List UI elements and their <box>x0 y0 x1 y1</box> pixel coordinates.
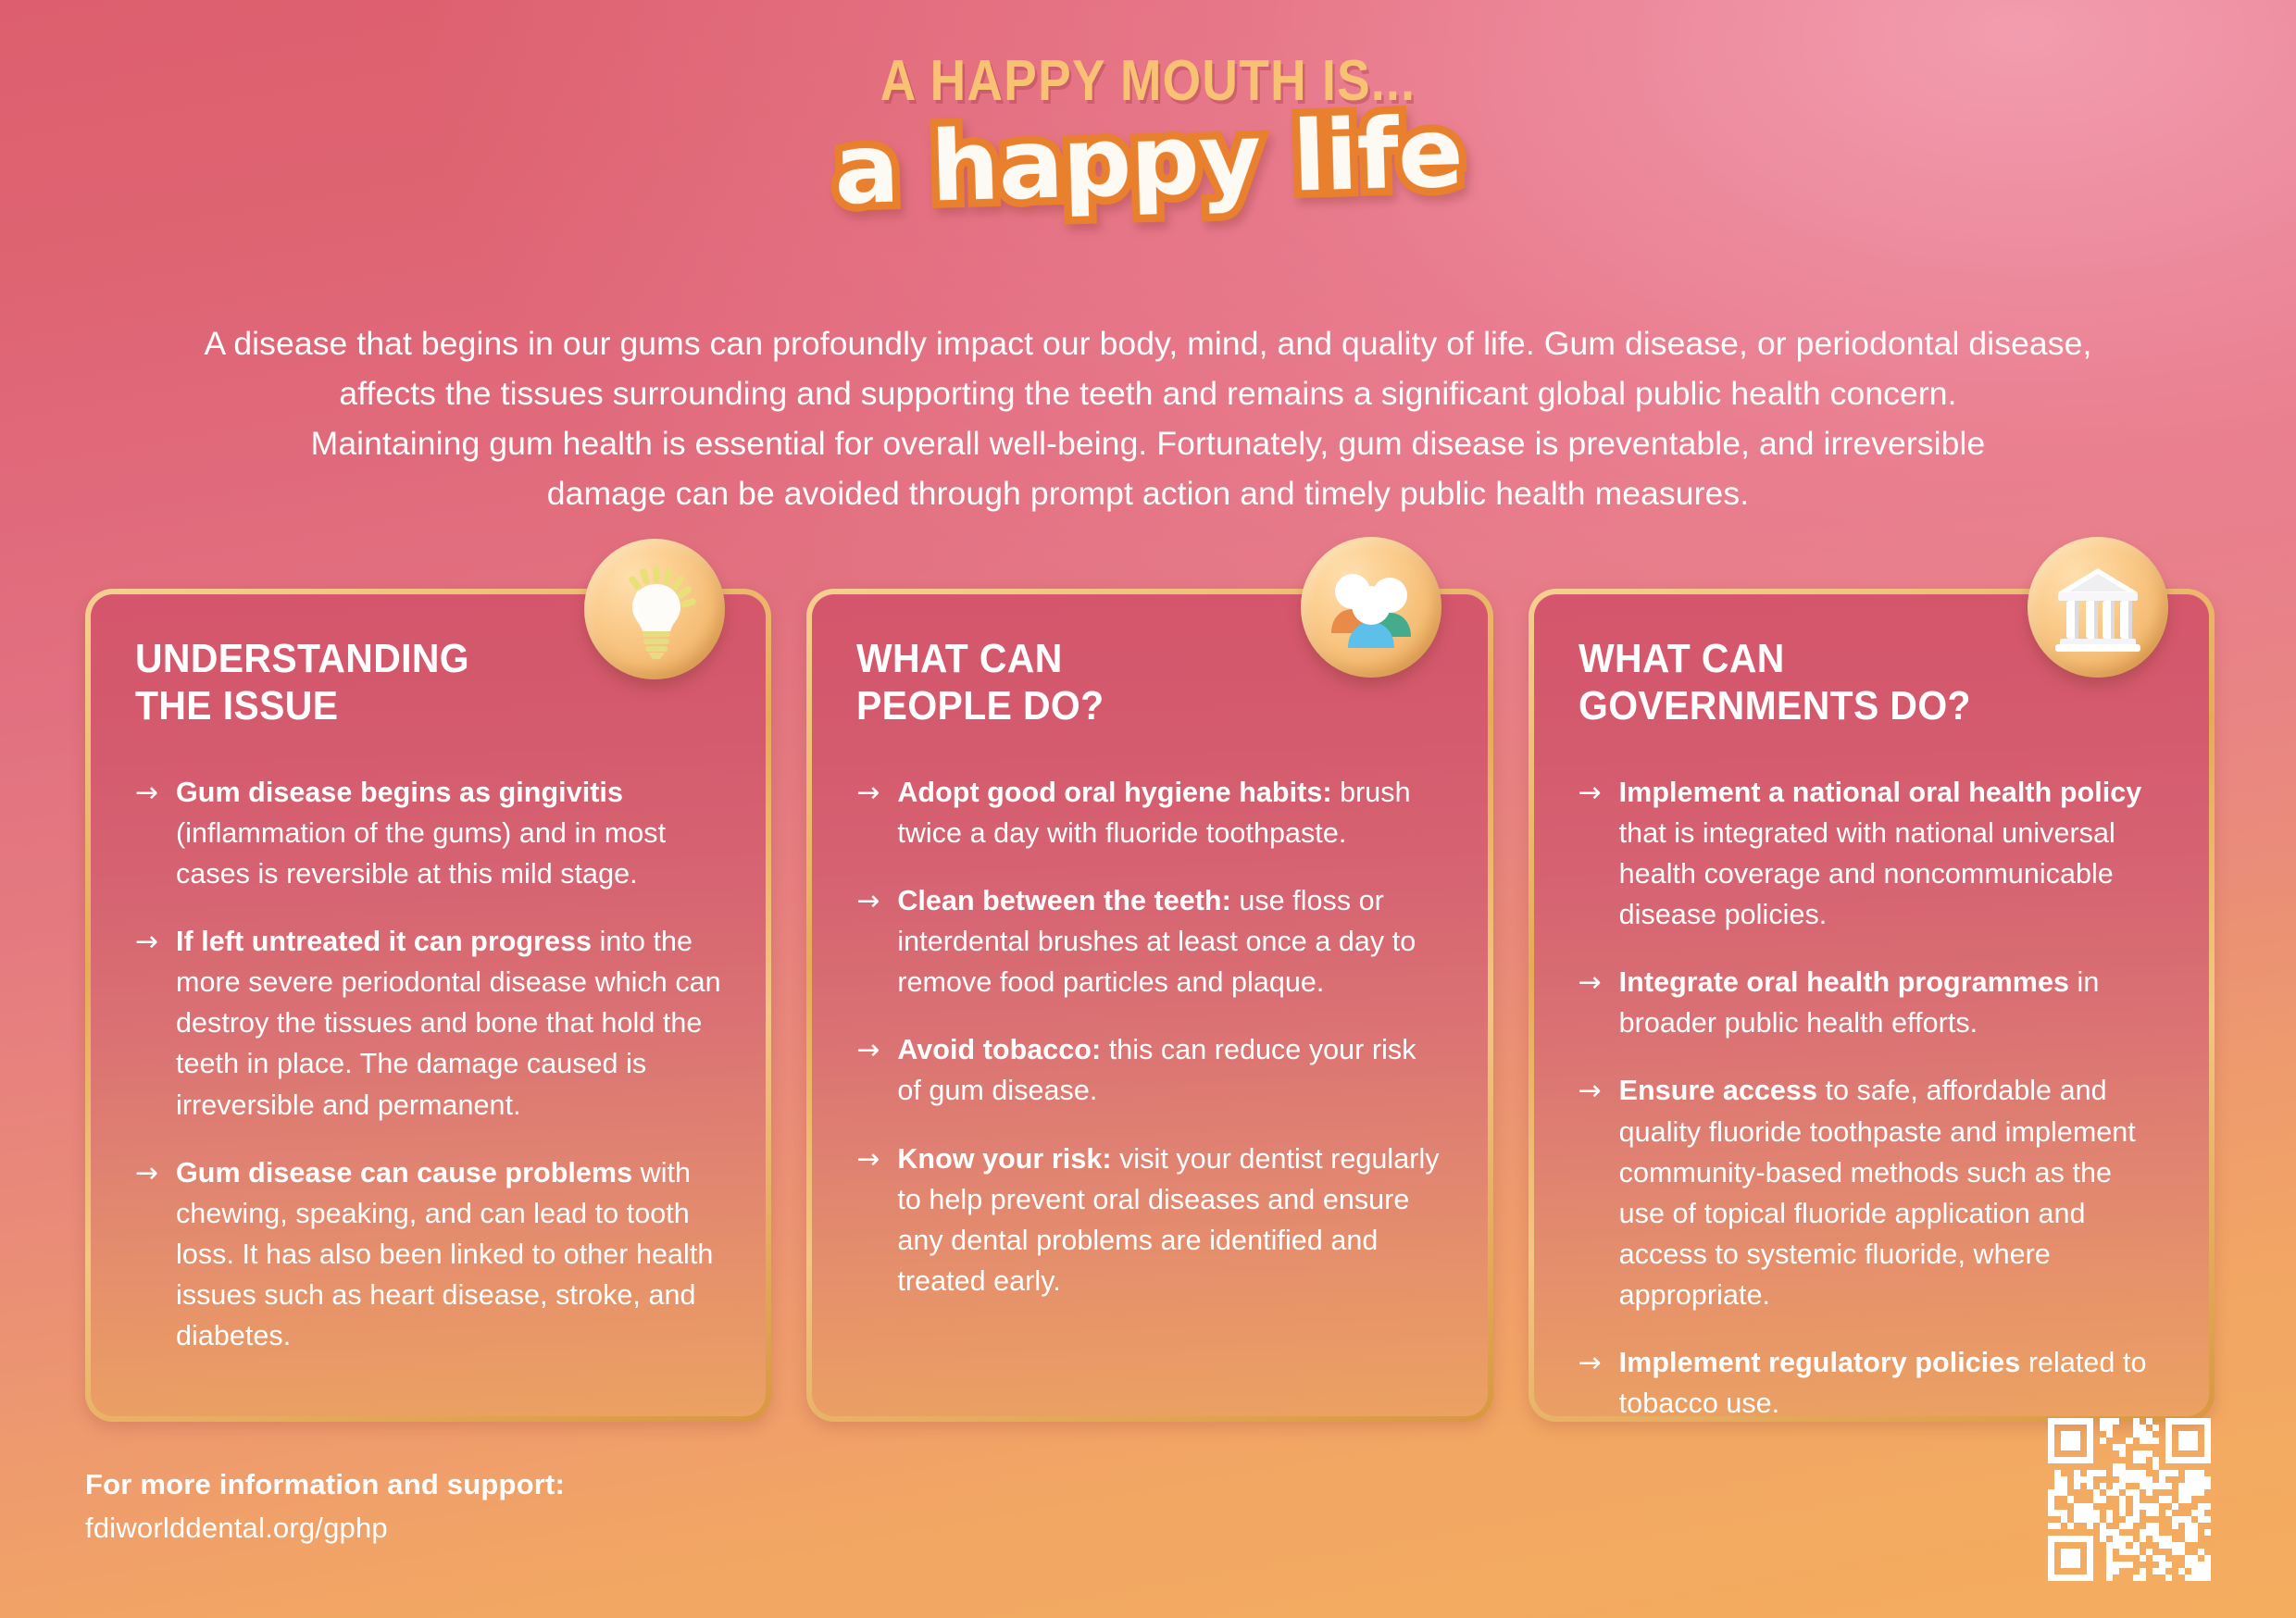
qr-module <box>2093 1483 2100 1489</box>
qr-module <box>2152 1555 2159 1562</box>
qr-module <box>2165 1549 2172 1555</box>
qr-module <box>2054 1418 2061 1425</box>
qr-module <box>2146 1431 2152 1438</box>
qr-module <box>2106 1568 2113 1574</box>
qr-module <box>2185 1450 2191 1457</box>
qr-module <box>2067 1444 2074 1450</box>
bullet-text: Gum disease begins as gingivitis (inflam… <box>176 772 721 894</box>
qr-module <box>2113 1503 2119 1510</box>
qr-module <box>2119 1555 2126 1562</box>
qr-module <box>2054 1529 2061 1536</box>
qr-module <box>2133 1483 2140 1489</box>
intro-line-2: affects the tissues surrounding and supp… <box>167 369 2129 419</box>
qr-module <box>2080 1444 2087 1450</box>
bullet-text: Clean between the teeth: use floss or in… <box>897 880 1442 1002</box>
qr-module <box>2191 1574 2198 1581</box>
qr-module <box>2067 1562 2074 1568</box>
qr-module <box>2185 1516 2191 1523</box>
qr-module <box>2159 1523 2165 1529</box>
qr-module <box>2061 1431 2067 1438</box>
qr-module <box>2119 1438 2126 1444</box>
qr-module <box>2133 1523 2140 1529</box>
qr-module <box>2048 1444 2054 1450</box>
qr-module <box>2119 1568 2126 1574</box>
qr-module <box>2191 1470 2198 1476</box>
qr-module <box>2178 1444 2185 1450</box>
qr-module <box>2140 1444 2146 1450</box>
qr-module <box>2152 1483 2159 1489</box>
qr-module <box>2165 1496 2172 1502</box>
card-understanding-the-issue: UNDERSTANDING THE ISSUE → Gum disease be… <box>85 589 771 1422</box>
qr-module <box>2100 1431 2106 1438</box>
qr-module <box>2074 1536 2080 1542</box>
qr-module <box>2054 1425 2061 1431</box>
qr-module <box>2080 1483 2087 1489</box>
qr-module <box>2191 1450 2198 1457</box>
qr-module <box>2204 1470 2211 1476</box>
qr-module <box>2165 1457 2172 1463</box>
qr-module <box>2106 1536 2113 1542</box>
qr-module <box>2152 1450 2159 1457</box>
qr-module <box>2080 1418 2087 1425</box>
logo-title: a happy life <box>832 105 1463 218</box>
qr-module <box>2054 1463 2061 1470</box>
qr-module <box>2080 1523 2087 1529</box>
bullet-lead: Gum disease begins as gingivitis <box>176 777 623 808</box>
qr-module <box>2080 1574 2087 1581</box>
list-item: → Gum disease begins as gingivitis (infl… <box>135 772 721 894</box>
qr-module <box>2061 1510 2067 1516</box>
bullet-text: Avoid tobacco: this can reduce your risk… <box>897 1029 1442 1111</box>
qr-module <box>2146 1444 2152 1450</box>
qr-module <box>2100 1444 2106 1450</box>
qr-module <box>2048 1568 2054 1574</box>
qr-module <box>2061 1489 2067 1496</box>
qr-module <box>2113 1549 2119 1555</box>
qr-module <box>2119 1463 2126 1470</box>
qr-module <box>2198 1529 2204 1536</box>
qr-module <box>2126 1483 2132 1489</box>
qr-module <box>2178 1470 2185 1476</box>
qr-module <box>2152 1476 2159 1483</box>
qr-module <box>2067 1431 2074 1438</box>
qr-module <box>2100 1496 2106 1502</box>
qr-module <box>2100 1523 2106 1529</box>
qr-module <box>2191 1418 2198 1425</box>
qr-module <box>2178 1483 2185 1489</box>
qr-module <box>2054 1431 2061 1438</box>
qr-module <box>2119 1516 2126 1523</box>
qr-module <box>2133 1450 2140 1457</box>
qr-module <box>2106 1496 2113 1502</box>
qr-module <box>2159 1562 2165 1568</box>
qr-module <box>2048 1562 2054 1568</box>
qr-module <box>2191 1516 2198 1523</box>
qr-module <box>2165 1529 2172 1536</box>
bullet-list: → Gum disease begins as gingivitis (infl… <box>135 772 721 1356</box>
qr-module <box>2067 1549 2074 1555</box>
qr-module <box>2061 1542 2067 1549</box>
qr-module <box>2146 1536 2152 1542</box>
qr-module <box>2100 1463 2106 1470</box>
qr-module <box>2113 1457 2119 1463</box>
qr-module <box>2113 1418 2119 1425</box>
qr-module <box>2191 1510 2198 1516</box>
footer-label: For more information and support: <box>85 1463 565 1507</box>
qr-module <box>2100 1450 2106 1457</box>
qr-module <box>2119 1476 2126 1483</box>
qr-module <box>2159 1438 2165 1444</box>
qr-module <box>2061 1450 2067 1457</box>
qr-module <box>2191 1562 2198 1568</box>
qr-module <box>2191 1536 2198 1542</box>
qr-module <box>2080 1489 2087 1496</box>
qr-module <box>2191 1425 2198 1431</box>
qr-module <box>2126 1536 2132 1542</box>
qr-module <box>2204 1483 2211 1489</box>
qr-module <box>2048 1489 2054 1496</box>
qr-module <box>2159 1483 2165 1489</box>
qr-module <box>2185 1483 2191 1489</box>
qr-module <box>2172 1510 2178 1516</box>
qr-module <box>2140 1542 2146 1549</box>
list-item: → Clean between the teeth: use floss or … <box>856 880 1442 1002</box>
qr-module <box>2074 1450 2080 1457</box>
qr-module <box>2106 1431 2113 1438</box>
qr-module <box>2048 1457 2054 1463</box>
qr-module <box>2087 1425 2093 1431</box>
qr-code[interactable] <box>2048 1418 2211 1581</box>
qr-module <box>2159 1555 2165 1562</box>
qr-module <box>2152 1457 2159 1463</box>
qr-module <box>2067 1470 2074 1476</box>
qr-module <box>2178 1568 2185 1574</box>
qr-module <box>2067 1418 2074 1425</box>
bullet-lead: Know your risk: <box>897 1143 1111 1175</box>
qr-module <box>2061 1438 2067 1444</box>
qr-module <box>2146 1489 2152 1496</box>
qr-module <box>2126 1470 2132 1476</box>
arrow-right-icon: → <box>1578 1342 1619 1383</box>
qr-module <box>2133 1431 2140 1438</box>
qr-module <box>2061 1562 2067 1568</box>
qr-module <box>2061 1549 2067 1555</box>
qr-module <box>2061 1444 2067 1450</box>
qr-module <box>2113 1425 2119 1431</box>
qr-module <box>2146 1503 2152 1510</box>
qr-module <box>2054 1542 2061 1549</box>
qr-module <box>2204 1450 2211 1457</box>
qr-module <box>2087 1444 2093 1450</box>
qr-module <box>2067 1555 2074 1562</box>
qr-module <box>2061 1425 2067 1431</box>
qr-module <box>2113 1470 2119 1476</box>
qr-module <box>2093 1457 2100 1463</box>
qr-module <box>2133 1457 2140 1463</box>
qr-module <box>2048 1549 2054 1555</box>
qr-module <box>2113 1483 2119 1489</box>
qr-module <box>2198 1418 2204 1425</box>
qr-module <box>2204 1549 2211 1555</box>
bullet-text: If left untreated it can progress into t… <box>176 921 721 1125</box>
header: A HAPPY MOUTH IS... a happy life <box>0 0 2296 305</box>
qr-module <box>2093 1463 2100 1470</box>
qr-module <box>2080 1425 2087 1431</box>
qr-module <box>2093 1542 2100 1549</box>
qr-module <box>2100 1503 2106 1510</box>
qr-module <box>2152 1444 2159 1450</box>
qr-module <box>2198 1476 2204 1483</box>
qr-module <box>2204 1503 2211 1510</box>
qr-module <box>2126 1418 2132 1425</box>
qr-module <box>2119 1483 2126 1489</box>
qr-module <box>2204 1536 2211 1542</box>
qr-module <box>2054 1438 2061 1444</box>
qr-module <box>2159 1450 2165 1457</box>
qr-module <box>2048 1542 2054 1549</box>
qr-module <box>2172 1496 2178 1502</box>
qr-module <box>2119 1510 2126 1516</box>
qr-module <box>2126 1489 2132 1496</box>
qr-module <box>2074 1503 2080 1510</box>
qr-module <box>2140 1476 2146 1483</box>
qr-module <box>2054 1555 2061 1562</box>
bullet-text: Gum disease can cause problems with chew… <box>176 1152 721 1356</box>
qr-module <box>2093 1562 2100 1568</box>
qr-module <box>2165 1555 2172 1562</box>
qr-module <box>2178 1503 2185 1510</box>
qr-module <box>2146 1457 2152 1463</box>
qr-module <box>2165 1418 2172 1425</box>
qr-module <box>2048 1536 2054 1542</box>
qr-module <box>2198 1463 2204 1470</box>
qr-module <box>2133 1503 2140 1510</box>
qr-module <box>2126 1444 2132 1450</box>
qr-module <box>2087 1516 2093 1523</box>
qr-module <box>2087 1431 2093 1438</box>
qr-module <box>2140 1418 2146 1425</box>
qr-module <box>2152 1516 2159 1523</box>
qr-module <box>2126 1523 2132 1529</box>
qr-module <box>2106 1562 2113 1568</box>
qr-module <box>2191 1523 2198 1529</box>
qr-module <box>2106 1438 2113 1444</box>
qr-module <box>2100 1574 2106 1581</box>
qr-module <box>2165 1516 2172 1523</box>
qr-module <box>2140 1450 2146 1457</box>
qr-module <box>2152 1503 2159 1510</box>
qr-module <box>2080 1562 2087 1568</box>
qr-module <box>2087 1457 2093 1463</box>
qr-module <box>2087 1463 2093 1470</box>
arrow-right-icon: → <box>856 1139 897 1179</box>
qr-module <box>2204 1476 2211 1483</box>
qr-module <box>2061 1555 2067 1562</box>
qr-module <box>2204 1418 2211 1425</box>
qr-module <box>2074 1510 2080 1516</box>
qr-module <box>2204 1523 2211 1529</box>
qr-module <box>2159 1470 2165 1476</box>
footer: For more information and support: fdiwor… <box>85 1463 565 1550</box>
qr-module <box>2198 1503 2204 1510</box>
qr-module <box>2061 1496 2067 1502</box>
qr-module <box>2178 1457 2185 1463</box>
qr-module <box>2093 1431 2100 1438</box>
qr-module <box>2152 1438 2159 1444</box>
qr-module <box>2113 1489 2119 1496</box>
qr-module <box>2133 1574 2140 1581</box>
qr-module <box>2152 1425 2159 1431</box>
qr-module <box>2140 1523 2146 1529</box>
qr-module <box>2191 1431 2198 1438</box>
qr-module <box>2093 1489 2100 1496</box>
qr-module <box>2146 1568 2152 1574</box>
bullet-lead: Ensure access <box>1619 1075 1817 1106</box>
footer-url[interactable]: fdiworlddental.org/gphp <box>85 1507 565 1550</box>
qr-module <box>2133 1542 2140 1549</box>
qr-module <box>2080 1516 2087 1523</box>
card-what-can-governments-do: WHAT CAN GOVERNMENTS DO? → Implement a n… <box>1529 589 2215 1422</box>
qr-module <box>2191 1444 2198 1450</box>
qr-module <box>2087 1496 2093 1502</box>
qr-module <box>2146 1418 2152 1425</box>
qr-module <box>2074 1523 2080 1529</box>
bullet-text: Ensure access to safe, affordable and qu… <box>1619 1070 2165 1314</box>
qr-module <box>2204 1496 2211 1502</box>
qr-module <box>2152 1418 2159 1425</box>
qr-module <box>2067 1463 2074 1470</box>
qr-module <box>2087 1536 2093 1542</box>
qr-module <box>2185 1503 2191 1510</box>
qr-module <box>2048 1574 2054 1581</box>
qr-module <box>2074 1568 2080 1574</box>
qr-module <box>2165 1463 2172 1470</box>
list-item: → Implement a national oral health polic… <box>1578 772 2165 935</box>
qr-module <box>2204 1529 2211 1536</box>
qr-module <box>2074 1542 2080 1549</box>
qr-module <box>2140 1425 2146 1431</box>
qr-module <box>2074 1463 2080 1470</box>
qr-module <box>2067 1510 2074 1516</box>
qr-module <box>2074 1489 2080 1496</box>
qr-module <box>2198 1457 2204 1463</box>
qr-module <box>2113 1574 2119 1581</box>
qr-module <box>2165 1450 2172 1457</box>
qr-module <box>2106 1418 2113 1425</box>
qr-module <box>2152 1470 2159 1476</box>
qr-module <box>2185 1542 2191 1549</box>
qr-module <box>2126 1503 2132 1510</box>
qr-module <box>2106 1450 2113 1457</box>
qr-module <box>2048 1418 2054 1425</box>
qr-module <box>2152 1574 2159 1581</box>
qr-module <box>2172 1523 2178 1529</box>
qr-module <box>2054 1523 2061 1529</box>
qr-module <box>2080 1549 2087 1555</box>
bullet-text: Implement a national oral health policy … <box>1619 772 2165 935</box>
qr-module <box>2165 1568 2172 1574</box>
qr-module <box>2185 1510 2191 1516</box>
qr-module <box>2152 1431 2159 1438</box>
qr-module <box>2048 1516 2054 1523</box>
qr-module <box>2204 1542 2211 1549</box>
qr-module <box>2093 1503 2100 1510</box>
qr-module <box>2093 1470 2100 1476</box>
qr-module <box>2061 1463 2067 1470</box>
qr-module <box>2165 1425 2172 1431</box>
qr-module <box>2113 1463 2119 1470</box>
qr-module <box>2178 1510 2185 1516</box>
qr-module <box>2061 1470 2067 1476</box>
qr-module <box>2172 1574 2178 1581</box>
qr-module <box>2140 1483 2146 1489</box>
arrow-right-icon: → <box>856 880 897 921</box>
qr-module <box>2165 1444 2172 1450</box>
qr-module <box>2119 1450 2126 1457</box>
qr-module <box>2100 1438 2106 1444</box>
qr-module <box>2054 1489 2061 1496</box>
qr-module <box>2080 1510 2087 1516</box>
qr-module <box>2074 1438 2080 1444</box>
qr-module <box>2093 1510 2100 1516</box>
qr-module <box>2178 1523 2185 1529</box>
qr-module <box>2106 1529 2113 1536</box>
qr-module <box>2185 1438 2191 1444</box>
qr-module <box>2204 1568 2211 1574</box>
qr-module <box>2159 1536 2165 1542</box>
qr-module <box>2198 1549 2204 1555</box>
qr-module <box>2067 1542 2074 1549</box>
qr-module <box>2119 1549 2126 1555</box>
qr-module <box>2165 1438 2172 1444</box>
qr-module <box>2172 1489 2178 1496</box>
qr-module <box>2126 1450 2132 1457</box>
qr-module <box>2165 1470 2172 1476</box>
qr-module <box>2054 1503 2061 1510</box>
qr-module <box>2119 1418 2126 1425</box>
qr-module <box>2080 1536 2087 1542</box>
qr-module <box>2106 1489 2113 1496</box>
arrow-right-icon: → <box>856 772 897 813</box>
qr-module <box>2191 1457 2198 1463</box>
arrow-right-icon: → <box>1578 962 1619 1002</box>
qr-module <box>2133 1476 2140 1483</box>
qr-module <box>2185 1496 2191 1502</box>
qr-module <box>2080 1555 2087 1562</box>
qr-module <box>2152 1542 2159 1549</box>
qr-module <box>2100 1476 2106 1483</box>
qr-module <box>2067 1536 2074 1542</box>
qr-module <box>2048 1431 2054 1438</box>
bullet-lead: Adopt good oral hygiene habits: <box>897 777 1331 808</box>
qr-module <box>2080 1438 2087 1444</box>
qr-module <box>2061 1503 2067 1510</box>
qr-module <box>2204 1516 2211 1523</box>
qr-module <box>2113 1431 2119 1438</box>
qr-module <box>2178 1418 2185 1425</box>
qr-module <box>2172 1555 2178 1562</box>
qr-module <box>2165 1562 2172 1568</box>
qr-module <box>2133 1536 2140 1542</box>
qr-module <box>2100 1470 2106 1476</box>
qr-module <box>2061 1529 2067 1536</box>
qr-module <box>2119 1444 2126 1450</box>
qr-module <box>2146 1516 2152 1523</box>
qr-module <box>2133 1418 2140 1425</box>
bullet-rest: that is integrated with national univers… <box>1619 817 2115 930</box>
qr-module <box>2172 1470 2178 1476</box>
qr-module <box>2172 1450 2178 1457</box>
